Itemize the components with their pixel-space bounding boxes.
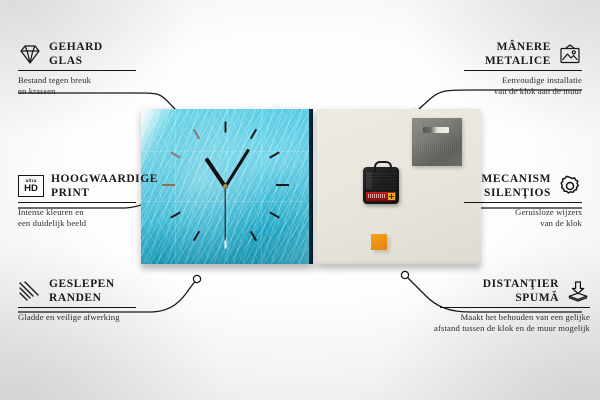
product-drop-shadow	[141, 264, 481, 274]
feature-subtitle: Gladde en veilige afwerking	[18, 312, 233, 324]
gear-icon	[558, 175, 582, 197]
arrow-down-onto-stack-icon	[566, 280, 590, 302]
feature-subtitle-line2: en krassen	[18, 86, 233, 98]
diamond-icon	[18, 43, 42, 65]
feature-title: HOOGWAARDIGE PRINT	[51, 172, 158, 200]
feature-subtitle-line2: van de klok	[367, 218, 582, 230]
feature-subtitle: Eenvoudige installatie van de klok aan d…	[367, 75, 582, 98]
feature-subtitle-line1: Intense kleuren en	[18, 207, 233, 219]
feature-rule	[440, 307, 590, 308]
feature-title-line1: MECANISM	[481, 173, 551, 185]
feature-title: MECANISM SILENŢIOS	[481, 172, 551, 200]
feature-subtitle-line2: een duidelijk beeld	[18, 218, 233, 230]
feature-gehard-glas: GEHARD GLAS Bestand tegen breuk en krass…	[18, 40, 233, 98]
feature-subtitle: Intense kleuren en een duidelijk beeld	[18, 207, 233, 230]
feature-manere-metalice: MÂNERE METALICE Eenvoudige installatie v…	[367, 40, 582, 98]
feature-title-line1: DISTANŢIER	[483, 278, 559, 290]
feature-title: GESLEPEN RANDEN	[49, 277, 115, 305]
feature-subtitle-line1: Gladde en veilige afwerking	[18, 312, 233, 324]
feature-subtitle-line2: afstand tussen de klok en de muur mogeli…	[355, 323, 590, 335]
feature-subtitle-line2: van de klok aan de muur	[367, 86, 582, 98]
feature-title-line2: METALICE	[485, 54, 551, 68]
metal-grain	[412, 118, 462, 166]
foam-spacer	[371, 234, 387, 250]
feature-heading: ultra HD HOOGWAARDIGE PRINT	[18, 172, 233, 200]
feature-title-line1: HOOGWAARDIGE	[51, 173, 158, 185]
feature-title-line2: SPUMĂ	[483, 291, 559, 305]
picture-frame-hanging-icon	[558, 43, 582, 65]
mechanism-hook	[374, 161, 392, 172]
feature-heading: GEHARD GLAS	[18, 40, 233, 68]
feature-subtitle: Maakt het behouden van een gelijke afsta…	[355, 312, 590, 335]
feature-subtitle: Bestand tegen breuk en krassen	[18, 75, 233, 98]
hanger-slot	[423, 127, 449, 133]
feature-title-line2: SILENŢIOS	[481, 186, 551, 200]
feature-rule	[464, 202, 582, 203]
feature-geslepen-randen: GESLEPEN RANDEN Gladde en veilige afwerk…	[18, 277, 233, 323]
ultra-hd-icon-hd: HD	[24, 184, 38, 194]
feature-heading: DISTANŢIER SPUMĂ	[355, 277, 590, 305]
feature-rule	[18, 307, 136, 308]
ultra-hd-icon: ultra HD	[18, 175, 44, 197]
feature-title-line1: MÂNERE	[497, 41, 551, 53]
feature-heading: GESLEPEN RANDEN	[18, 277, 233, 305]
clock-tick	[276, 184, 289, 186]
feature-heading: MECANISM SILENŢIOS	[367, 172, 582, 200]
feature-title-line1: GEHARD	[49, 41, 103, 53]
feature-title-line1: GESLEPEN	[49, 278, 115, 290]
feature-mecanism-silentios: MECANISM SILENŢIOS Geruisloze wijzers va…	[367, 172, 582, 230]
feature-title-line2: GLAS	[49, 54, 103, 68]
feature-subtitle: Geruisloze wijzers van de klok	[367, 207, 582, 230]
feature-title: MÂNERE METALICE	[485, 40, 551, 68]
metal-hanger-bracket	[412, 118, 462, 166]
feature-title: DISTANŢIER SPUMĂ	[483, 277, 559, 305]
feature-heading: MÂNERE METALICE	[367, 40, 582, 68]
feature-subtitle-line1: Eenvoudige installatie	[367, 75, 582, 87]
feature-title: GEHARD GLAS	[49, 40, 103, 68]
feature-rule	[464, 70, 582, 71]
feature-subtitle-line1: Bestand tegen breuk	[18, 75, 233, 87]
clock-tick	[224, 122, 226, 133]
feature-distantier-spuma: DISTANŢIER SPUMĂ Maakt het behouden van …	[355, 277, 590, 335]
bevelled-edges-icon	[18, 280, 42, 302]
feature-hoogwaardige-print: ultra HD HOOGWAARDIGE PRINT Intense kleu…	[18, 172, 233, 230]
feature-subtitle-line1: Geruisloze wijzers	[367, 207, 582, 219]
feature-title-line2: PRINT	[51, 186, 158, 200]
feature-title-line2: RANDEN	[49, 291, 115, 305]
infographic-canvas: GEHARD GLAS Bestand tegen breuk en krass…	[0, 0, 600, 400]
feature-rule	[18, 70, 136, 71]
feature-subtitle-line1: Maakt het behouden van een gelijke	[355, 312, 590, 324]
glass-panel-edge	[309, 109, 313, 264]
feature-rule	[18, 202, 136, 203]
